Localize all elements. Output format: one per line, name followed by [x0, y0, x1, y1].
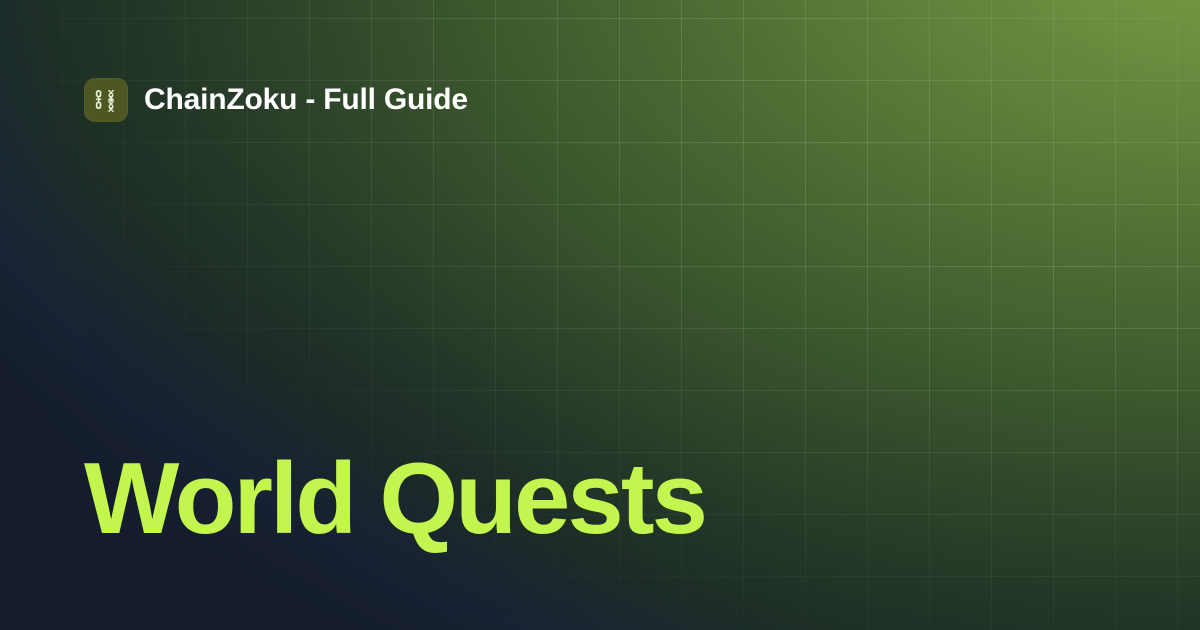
- brand-title: ChainZoku - Full Guide: [144, 85, 468, 115]
- brand-header: ChainZoku - Full Guide: [84, 78, 468, 122]
- chain-link-logo-icon: [93, 87, 119, 113]
- page-headline: World Quests: [84, 449, 705, 550]
- og-preview-card: ChainZoku - Full Guide World Quests: [0, 0, 1200, 630]
- card-content: ChainZoku - Full Guide World Quests: [0, 0, 1200, 630]
- brand-logo-badge: [84, 78, 128, 122]
